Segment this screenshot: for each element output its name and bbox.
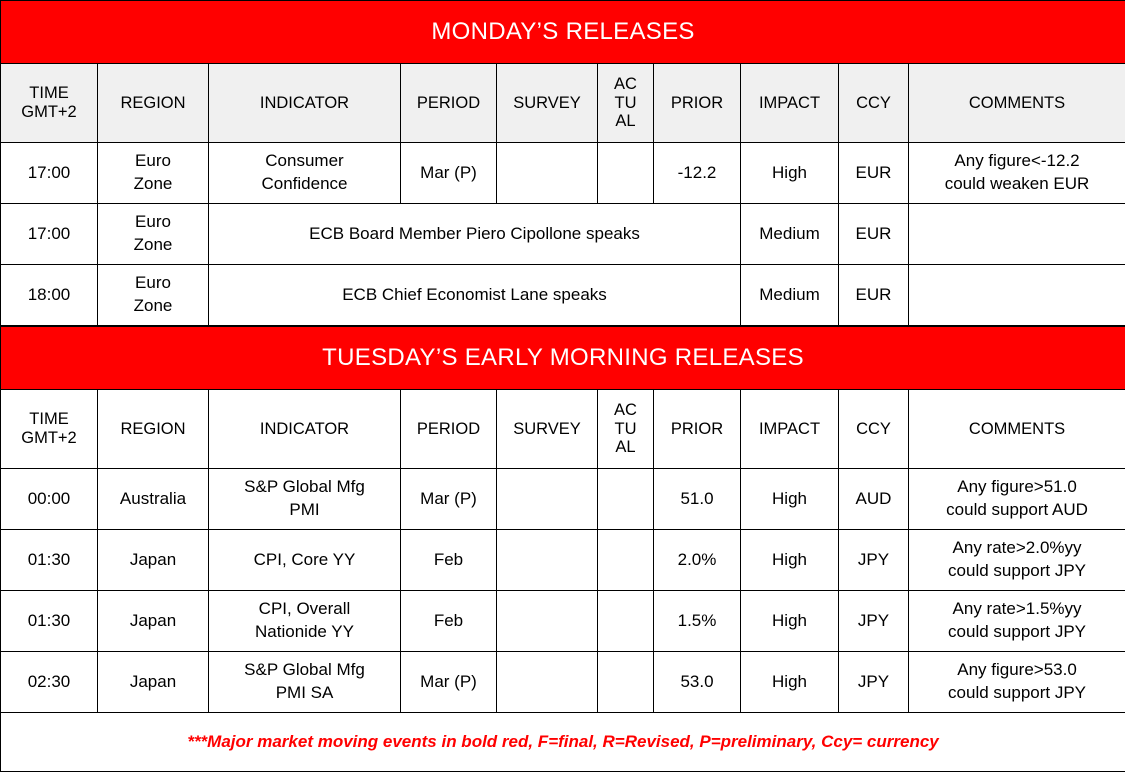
column-header-period: PERIOD (401, 64, 497, 143)
column-header-time-line2: GMT+2 (21, 429, 76, 447)
column-header-actual-line1: AC (614, 75, 637, 93)
cell-prior: -12.2 (654, 143, 741, 204)
cell-ccy: EUR (839, 143, 909, 204)
cell-comments: Any figure>51.0 could support AUD (909, 469, 1125, 530)
tuesday-banner-row: TUESDAY’S EARLY MORNING RELEASES (1, 327, 1125, 390)
cell-impact: High (741, 652, 839, 713)
column-header-prior: PRIOR (654, 390, 741, 469)
cell-time: 02:30 (1, 652, 98, 713)
cell-indicator: CPI, Overall Nationide YY (209, 591, 401, 652)
cell-comments (909, 204, 1125, 265)
column-header-period: PERIOD (401, 390, 497, 469)
tuesday-header-row: TIME GMT+2 REGION INDICATOR PERIOD SURVE… (1, 390, 1125, 469)
cell-impact: Medium (741, 204, 839, 265)
cell-indicator: S&P Global Mfg PMI (209, 469, 401, 530)
footer-row: ***Major market moving events in bold re… (1, 713, 1125, 772)
cell-time: 01:30 (1, 591, 98, 652)
cell-time: 17:00 (1, 143, 98, 204)
column-header-survey: SURVEY (497, 64, 598, 143)
tuesday-releases-table: TUESDAY’S EARLY MORNING RELEASES TIME GM… (0, 326, 1125, 772)
cell-period: Mar (P) (401, 652, 497, 713)
column-header-indicator: INDICATOR (209, 390, 401, 469)
cell-region: Japan (98, 530, 209, 591)
column-header-survey: SURVEY (497, 390, 598, 469)
cell-region-line1: Euro (135, 212, 171, 231)
cell-survey (497, 143, 598, 204)
column-header-comments: COMMENTS (909, 390, 1125, 469)
cell-comments-line2: could weaken EUR (945, 174, 1090, 193)
cell-comments-line2: could support AUD (946, 500, 1088, 519)
cell-impact: High (741, 530, 839, 591)
cell-indicator: Consumer Confidence (209, 143, 401, 204)
cell-indicator-line1: S&P Global Mfg (244, 477, 365, 496)
column-header-actual-line1: AC (614, 401, 637, 419)
cell-region-line2: Zone (134, 235, 173, 254)
column-header-time-line1: TIME (29, 410, 68, 428)
cell-impact: High (741, 143, 839, 204)
cell-region: Australia (98, 469, 209, 530)
cell-comments-line1: Any figure>53.0 (957, 660, 1077, 679)
cell-indicator-line2: Confidence (261, 174, 347, 193)
cell-ccy: EUR (839, 265, 909, 326)
cell-indicator-line2: Nationide YY (255, 622, 354, 641)
cell-period: Feb (401, 591, 497, 652)
cell-comments-line1: Any figure<-12.2 (954, 151, 1079, 170)
table-row: 17:00 Euro Zone ECB Board Member Piero C… (1, 204, 1125, 265)
monday-banner-title: MONDAY’S RELEASES (1, 1, 1125, 64)
cell-region: Japan (98, 591, 209, 652)
cell-actual (598, 652, 654, 713)
column-header-time-line1: TIME (29, 84, 68, 102)
cell-comments-line2: could support JPY (948, 683, 1086, 702)
cell-region: Japan (98, 652, 209, 713)
cell-comments-line1: Any rate>1.5%yy (953, 599, 1082, 618)
cell-period: Feb (401, 530, 497, 591)
cell-actual (598, 469, 654, 530)
cell-impact: High (741, 591, 839, 652)
cell-region: Euro Zone (98, 204, 209, 265)
cell-time: 18:00 (1, 265, 98, 326)
cell-ccy: JPY (839, 652, 909, 713)
cell-region-line2: Zone (134, 174, 173, 193)
column-header-region: REGION (98, 64, 209, 143)
cell-time: 01:30 (1, 530, 98, 591)
cell-comments (909, 265, 1125, 326)
footer-note-cell: ***Major market moving events in bold re… (1, 713, 1125, 772)
table-row: 00:00 Australia S&P Global Mfg PMI Mar (… (1, 469, 1125, 530)
column-header-impact: IMPACT (741, 390, 839, 469)
cell-indicator-line1: S&P Global Mfg (244, 660, 365, 679)
cell-impact: High (741, 469, 839, 530)
monday-banner-row: MONDAY’S RELEASES (1, 1, 1125, 64)
cell-comments: Any figure<-12.2 could weaken EUR (909, 143, 1125, 204)
cell-period: Mar (P) (401, 469, 497, 530)
cell-ccy: AUD (839, 469, 909, 530)
monday-header-row: TIME GMT+2 REGION INDICATOR PERIOD SURVE… (1, 64, 1125, 143)
column-header-actual-line2: TU (615, 420, 637, 438)
column-header-region: REGION (98, 390, 209, 469)
table-row: 18:00 Euro Zone ECB Chief Economist Lane… (1, 265, 1125, 326)
economic-calendar-sheet: MONDAY’S RELEASES TIME GMT+2 REGION INDI… (0, 0, 1125, 783)
cell-comments: Any figure>53.0 could support JPY (909, 652, 1125, 713)
cell-comments-line1: Any rate>2.0%yy (953, 538, 1082, 557)
column-header-impact: IMPACT (741, 64, 839, 143)
cell-impact: Medium (741, 265, 839, 326)
column-header-ccy: CCY (839, 64, 909, 143)
column-header-ccy: CCY (839, 390, 909, 469)
cell-event: ECB Board Member Piero Cipollone speaks (209, 204, 741, 265)
column-header-indicator: INDICATOR (209, 64, 401, 143)
cell-survey (497, 652, 598, 713)
cell-prior: 1.5% (654, 591, 741, 652)
cell-event: ECB Chief Economist Lane speaks (209, 265, 741, 326)
monday-releases-table: MONDAY’S RELEASES TIME GMT+2 REGION INDI… (0, 0, 1125, 326)
cell-time: 00:00 (1, 469, 98, 530)
cell-region-line2: Zone (134, 296, 173, 315)
cell-comments: Any rate>2.0%yy could support JPY (909, 530, 1125, 591)
cell-period: Mar (P) (401, 143, 497, 204)
column-header-actual-line3: AL (615, 438, 635, 456)
cell-indicator: CPI, Core YY (209, 530, 401, 591)
column-header-actual: AC TU AL (598, 390, 654, 469)
column-header-actual-line3: AL (615, 112, 635, 130)
cell-time: 17:00 (1, 204, 98, 265)
cell-survey (497, 591, 598, 652)
cell-actual (598, 591, 654, 652)
cell-comments-line2: could support JPY (948, 622, 1086, 641)
cell-actual (598, 530, 654, 591)
footer-note: ***Major market moving events in bold re… (187, 732, 938, 751)
table-row: 17:00 Euro Zone Consumer Confidence Mar … (1, 143, 1125, 204)
cell-prior: 2.0% (654, 530, 741, 591)
cell-region: Euro Zone (98, 265, 209, 326)
cell-region-line1: Euro (135, 273, 171, 292)
cell-indicator: S&P Global Mfg PMI SA (209, 652, 401, 713)
cell-survey (497, 530, 598, 591)
cell-region-line1: Euro (135, 151, 171, 170)
cell-ccy: EUR (839, 204, 909, 265)
column-header-actual-line2: TU (615, 94, 637, 112)
cell-prior: 51.0 (654, 469, 741, 530)
cell-comments-line1: Any figure>51.0 (957, 477, 1077, 496)
table-row: 01:30 Japan CPI, Core YY Feb 2.0% High J… (1, 530, 1125, 591)
table-row: 01:30 Japan CPI, Overall Nationide YY Fe… (1, 591, 1125, 652)
cell-ccy: JPY (839, 530, 909, 591)
tuesday-banner-title: TUESDAY’S EARLY MORNING RELEASES (1, 327, 1125, 390)
column-header-time-line2: GMT+2 (21, 103, 76, 121)
cell-ccy: JPY (839, 591, 909, 652)
table-row: 02:30 Japan S&P Global Mfg PMI SA Mar (P… (1, 652, 1125, 713)
cell-actual (598, 143, 654, 204)
column-header-prior: PRIOR (654, 64, 741, 143)
cell-indicator-line1: CPI, Overall (259, 599, 351, 618)
column-header-time: TIME GMT+2 (1, 390, 98, 469)
column-header-comments: COMMENTS (909, 64, 1125, 143)
cell-region: Euro Zone (98, 143, 209, 204)
cell-indicator-line2: PMI (289, 500, 319, 519)
cell-comments: Any rate>1.5%yy could support JPY (909, 591, 1125, 652)
cell-prior: 53.0 (654, 652, 741, 713)
column-header-actual: AC TU AL (598, 64, 654, 143)
cell-indicator-line1: Consumer (265, 151, 343, 170)
cell-survey (497, 469, 598, 530)
cell-comments-line2: could support JPY (948, 561, 1086, 580)
cell-indicator-line2: PMI SA (276, 683, 334, 702)
column-header-time: TIME GMT+2 (1, 64, 98, 143)
